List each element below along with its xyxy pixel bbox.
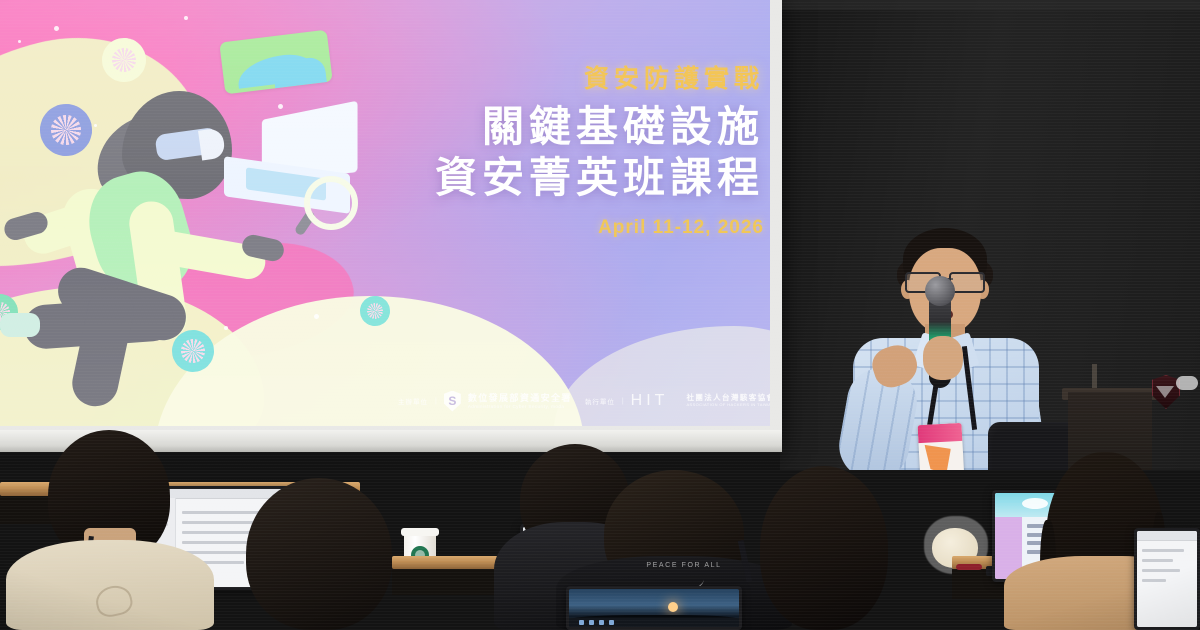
laptop-screen — [569, 589, 739, 627]
star-dot — [18, 40, 21, 43]
text-line — [1142, 559, 1173, 562]
laptop-screen — [1137, 531, 1197, 627]
speaker-hand-holding-mic — [923, 336, 963, 380]
coffee-cup-lid — [401, 528, 439, 536]
taskbar-icon[interactable] — [589, 620, 594, 625]
slide-headline-line2: 資安菁英班課程 — [294, 152, 764, 203]
sun-glow — [668, 602, 678, 612]
room-ceiling — [775, 0, 1200, 10]
host-org-en: Administration for Cyber Security, moda — [468, 404, 572, 409]
text-line — [1142, 549, 1184, 552]
star-dot — [184, 16, 188, 20]
star-dot — [314, 314, 319, 319]
projection-screen-frame: 資安防護實戰 關鍵基礎設施 資安菁英班課程 April 11-12, 2026 … — [0, 0, 782, 448]
host-org-cn: 數位發展部資通安全署 — [468, 393, 572, 403]
attendee-head — [246, 478, 392, 630]
star-dot — [54, 26, 59, 31]
slide-date: April 11-12, 2026 — [294, 217, 764, 239]
document-window — [1137, 531, 1197, 627]
organizer-label: 執行單位 — [585, 396, 615, 406]
host-label: 主辦單位 — [398, 396, 428, 406]
badge-header — [918, 423, 963, 443]
projection-screen: 資安防護實戰 關鍵基礎設施 資安菁英班課程 April 11-12, 2026 … — [0, 0, 770, 426]
attendee-head — [760, 466, 888, 630]
screenshot-root: 資安防護實戰 關鍵基礎設施 資安菁英班課程 April 11-12, 2026 … — [0, 0, 1200, 630]
taskbar-icon[interactable] — [609, 620, 614, 625]
organizer-org: 社團法人台灣駭客協會 ASSOCIATION OF HACKERS IN TAI… — [686, 394, 770, 407]
gear-icon — [102, 38, 146, 82]
slide-text-block: 資安防護實戰 關鍵基礎設施 資安菁英班課程 April 11-12, 2026 — [294, 66, 770, 239]
pen — [956, 564, 982, 570]
illustration-shoe — [0, 313, 40, 337]
taskbar[interactable] — [569, 618, 739, 627]
slide-footer: 主辦單位 | 數位發展部資通安全署 Administration for Cyb… — [398, 387, 758, 415]
laptop — [1134, 528, 1200, 630]
taskbar-icon[interactable] — [599, 620, 604, 625]
window-titlebar — [1137, 531, 1197, 541]
text-line — [1142, 579, 1166, 582]
slide-headline-line1: 關鍵基礎設施 — [294, 101, 764, 152]
footer-separator: | — [622, 398, 624, 405]
laptop — [566, 586, 742, 630]
emblem-tag — [1176, 376, 1198, 390]
shield-logo-icon — [444, 391, 461, 412]
host-org: 數位發展部資通安全署 Administration for Cyber Secu… — [468, 393, 572, 409]
organizer-org-en: ASSOCIATION OF HACKERS IN TAIWAN — [686, 403, 770, 408]
shirt-text: PEACE FOR ALL — [636, 562, 732, 569]
slide-kicker: 資安防護實戰 — [294, 66, 764, 94]
hit-logo: HIT — [631, 392, 669, 410]
footer-separator: | — [435, 398, 437, 405]
microphone-head — [925, 276, 955, 306]
gear-icon — [360, 296, 390, 326]
taskbar-icon[interactable] — [579, 620, 584, 625]
desktop-wallpaper — [569, 589, 739, 627]
text-line — [1142, 569, 1180, 572]
